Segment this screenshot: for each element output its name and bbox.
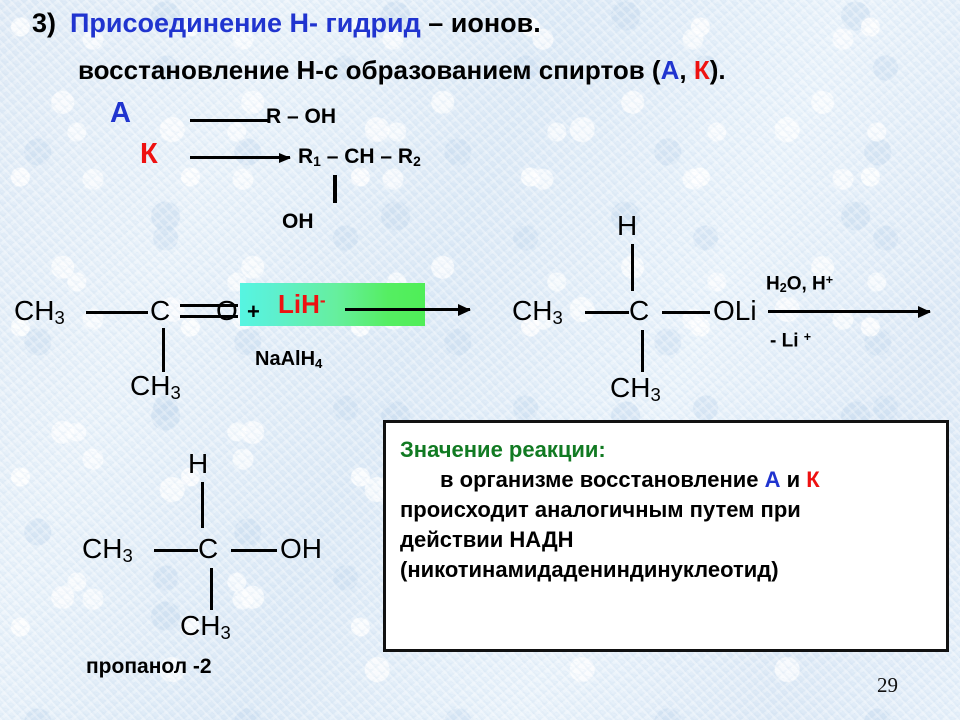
heading-line-2: восстановление Н-с образованием спиртов … — [78, 55, 726, 86]
product-bond-ch3-c — [585, 311, 629, 314]
reactant-left-ch3-text: CH — [14, 295, 54, 326]
significance-note-box: Значение реакции: в организме восстановл… — [383, 420, 949, 652]
heading-line2-suffix: ). — [710, 55, 726, 85]
plus-sign: + — [247, 299, 260, 325]
propanol-left-ch3-sub: 3 — [122, 545, 132, 566]
propanol-bond-h-c — [201, 482, 204, 528]
propanol-bottom-ch3: CH3 — [180, 610, 231, 644]
note-line-2: в организме восстановление А и К — [400, 465, 932, 495]
condition-o-h: O, H — [787, 273, 826, 294]
heading-line2-letter-a: А — [661, 55, 680, 85]
product-k-mid: – CH – R — [321, 145, 413, 168]
propanol-bottom-ch3-text: CH — [180, 610, 220, 641]
product-r-oh: R – OH — [266, 105, 336, 129]
slide-canvas: 3)Присоединение Н- гидрид – ионов. восст… — [0, 0, 960, 720]
condition-h-charge: + — [826, 273, 833, 287]
reactant-oxygen: O — [216, 295, 238, 327]
note-line-5: (никотинамидадениндинуклеотид) — [400, 555, 932, 585]
heading-line2-prefix: восстановление Н-с образованием спиртов … — [78, 55, 661, 85]
heading-line2-separator: , — [679, 55, 693, 85]
reaction-arrow-k — [190, 156, 290, 159]
product-bond-h-c — [631, 244, 634, 291]
propanol-bottom-ch3-sub: 3 — [220, 622, 230, 643]
product-k-sub2: 2 — [413, 153, 421, 169]
propanol-carbon: C — [198, 533, 218, 565]
reactant-carbon: C — [150, 295, 170, 327]
heading-number: 3) — [32, 8, 56, 38]
condition-li-charge: + — [804, 330, 811, 344]
product-k-main: R — [298, 145, 313, 168]
reaction-arrow-hydrolysis — [768, 310, 930, 313]
propanol-bond-c-ch3 — [210, 568, 213, 610]
product-top-hydrogen: Н — [617, 210, 637, 242]
label-aldehyde-a: А — [110, 97, 131, 130]
product-k-sub1: 1 — [313, 153, 321, 169]
condition-minus-lithium: - Li + — [770, 330, 811, 352]
heading-line2-letter-k: К — [694, 55, 710, 85]
product-bottom-ch3: CH3 — [610, 372, 661, 406]
reagent-naalh4: NaAlH4 — [255, 348, 322, 371]
note-line-4: действии НАДН — [400, 525, 932, 555]
note-line2-mid: и — [781, 467, 807, 492]
bond-line-a — [190, 119, 270, 122]
reactant-left-ch3: CH3 — [14, 295, 65, 329]
heading-line-1: 3)Присоединение Н- гидрид – ионов. — [32, 8, 541, 39]
propanol-left-ch3-text: CH — [82, 533, 122, 564]
propanol-bond-ch3-c — [154, 549, 198, 552]
propanol-left-ch3: CH3 — [82, 533, 133, 567]
reactant-bottom-ch3: CH3 — [130, 370, 181, 404]
propanol-hydroxyl: OH — [280, 533, 322, 565]
note-letter-a: А — [765, 467, 781, 492]
propanol-top-hydrogen: Н — [188, 448, 208, 480]
bond-vertical-oh — [333, 175, 337, 203]
reactant-bottom-ch3-text: CH — [130, 370, 170, 401]
condition-water-acid: H2O, H+ — [766, 273, 833, 295]
product-left-ch3-sub: 3 — [552, 307, 562, 328]
product-bond-c-oli — [662, 311, 710, 314]
reaction-arrow-main — [345, 308, 470, 311]
product-bond-c-ch3 — [641, 330, 644, 372]
reagent-lih: LiH- — [278, 289, 326, 320]
product-oli-group: OLi — [713, 295, 757, 327]
product-r1-ch-r2: R1 – CH – R2 — [298, 145, 421, 169]
note-line2-prefix: в организме восстановление — [440, 467, 765, 492]
reagent-naalh4-sub: 4 — [315, 356, 322, 371]
reactant-left-ch3-sub: 3 — [54, 307, 64, 328]
product-bottom-ch3-text: CH — [610, 372, 650, 403]
condition-h-sub: 2 — [780, 281, 787, 295]
reactant-bond-ch3-c — [86, 311, 148, 314]
reactant-bond-c-ch3 — [162, 328, 165, 372]
note-line-3: происходит аналогичным путем при — [400, 495, 932, 525]
reactant-bottom-ch3-sub: 3 — [170, 382, 180, 403]
reagent-lih-text: LiH — [278, 289, 320, 319]
heading-line1-blue: Присоединение Н- гидрид — [70, 8, 421, 38]
substituent-oh: ОН — [282, 210, 314, 234]
label-ketone-k: К — [140, 138, 158, 171]
propanol-name-label: пропанол -2 — [86, 655, 212, 679]
reagent-lih-charge: - — [320, 290, 326, 310]
note-title: Значение реакции: — [400, 435, 932, 465]
product-left-ch3: CH3 — [512, 295, 563, 329]
reagent-naalh4-text: NaAlH — [255, 348, 315, 370]
reagent-highlight-band — [240, 283, 425, 326]
condition-h: H — [766, 273, 780, 294]
condition-li-text: - Li — [770, 330, 804, 351]
product-left-ch3-text: CH — [512, 295, 552, 326]
heading-line1-black: – ионов. — [421, 8, 541, 38]
note-letter-k: К — [806, 467, 819, 492]
product-bottom-ch3-sub: 3 — [650, 384, 660, 405]
product-carbon: C — [629, 295, 649, 327]
page-number: 29 — [877, 673, 898, 698]
propanol-bond-c-oh — [231, 549, 277, 552]
